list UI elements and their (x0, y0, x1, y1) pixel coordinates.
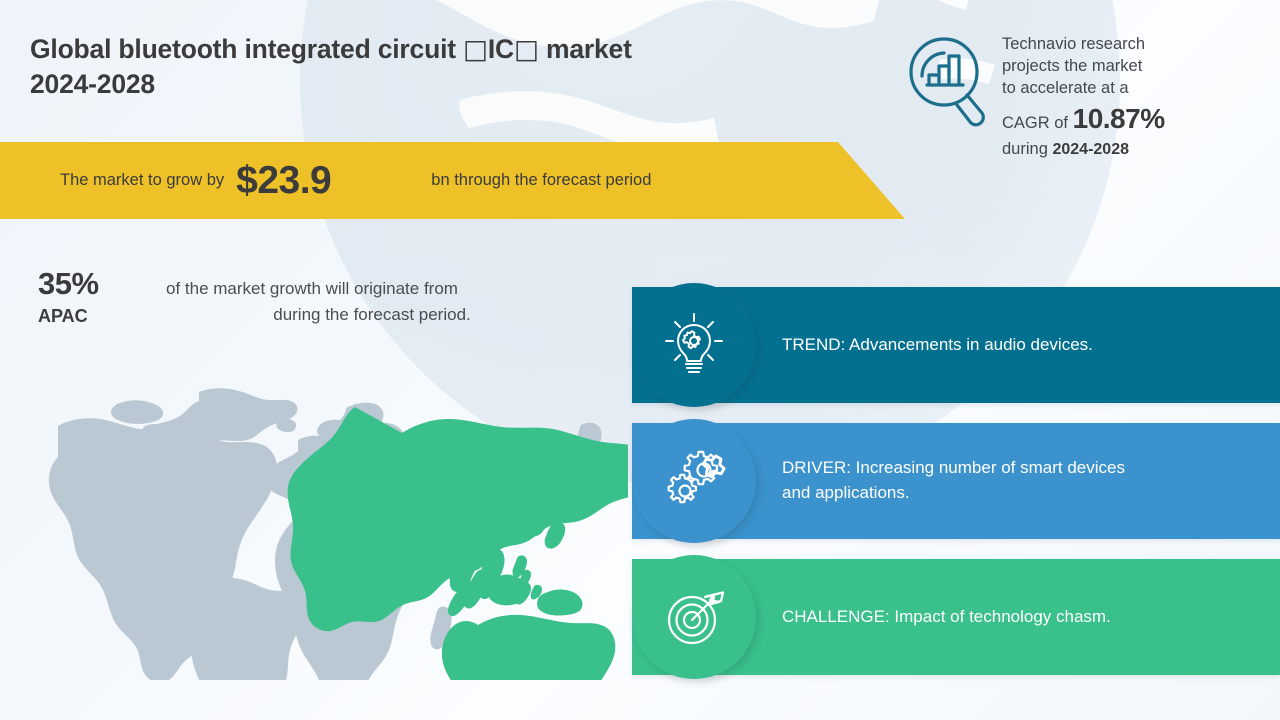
title-text-pre: Global bluetooth integrated circuit (30, 34, 463, 64)
title-missing-glyph-open: □ (463, 34, 488, 65)
driver-line-1: DRIVER: Increasing number of smart devic… (782, 456, 1125, 481)
highlight-row-trend[interactable]: TREND: Advancements in audio devices. (632, 287, 1280, 403)
growth-banner-content: The market to grow by $23.9 bn through t… (60, 142, 651, 219)
world-map-svg (28, 380, 628, 680)
apac-share-block: 35% APAC of the market growth will origi… (38, 268, 608, 329)
apac-region-label: APAC (38, 306, 166, 327)
title-text-post: market (539, 34, 632, 64)
driver-text: DRIVER: Increasing number of smart devic… (782, 456, 1145, 505)
growth-value: $23.9 (236, 159, 331, 203)
growth-suffix-label: bn through the forecast period (431, 171, 651, 190)
highlight-row-challenge[interactable]: CHALLENGE: Impact of technology chasm. (632, 559, 1280, 675)
growth-banner: The market to grow by $23.9 bn through t… (0, 142, 905, 219)
challenge-text: CHALLENGE: Impact of technology chasm. (782, 605, 1131, 630)
cagr-line-3: to accelerate at a (1002, 78, 1260, 100)
lightbulb-gear-icon (661, 312, 727, 378)
title-ic: IC (488, 34, 514, 64)
trend-line-1: TREND: Advancements in audio devices. (782, 333, 1093, 358)
apac-description: of the market growth will originate from… (166, 268, 608, 329)
title-years: 2024-2028 (30, 69, 155, 99)
apac-percent: 35% (38, 268, 166, 301)
page-title-block: Global bluetooth integrated circuit □IC□… (30, 32, 790, 102)
cagr-label: CAGR of (1002, 114, 1068, 132)
trend-text: TREND: Advancements in audio devices. (782, 333, 1113, 358)
cagr-value: 10.87% (1073, 103, 1165, 134)
driver-icon-circle (632, 419, 756, 543)
apac-description-line-2: during the forecast period. (166, 302, 608, 328)
challenge-line-1: CHALLENGE: Impact of technology chasm. (782, 605, 1111, 630)
highlight-row-driver[interactable]: DRIVER: Increasing number of smart devic… (632, 423, 1280, 539)
gears-icon (661, 448, 727, 514)
cagr-line-1: Technavio research (1002, 34, 1260, 56)
trend-icon-circle (632, 283, 756, 407)
apac-stat: 35% APAC (38, 268, 166, 329)
cagr-text: Technavio research projects the market t… (1002, 28, 1260, 161)
cagr-line-2: projects the market (1002, 56, 1260, 78)
growth-prefix-label: The market to grow by (60, 171, 224, 190)
title-missing-glyph-close: □ (514, 34, 539, 65)
apac-description-line-1: of the market growth will originate from (166, 279, 458, 298)
cagr-period: 2024-2028 (1052, 141, 1129, 158)
world-map (28, 380, 628, 680)
challenge-icon-circle (632, 555, 756, 679)
page-title: Global bluetooth integrated circuit □IC□… (30, 32, 790, 102)
cagr-block: Technavio research projects the market t… (900, 28, 1260, 161)
magnifier-bar-chart-icon (900, 28, 992, 138)
driver-line-2: and applications. (782, 481, 1125, 506)
cagr-during-label: during (1002, 140, 1048, 158)
target-arrow-icon (661, 584, 727, 650)
